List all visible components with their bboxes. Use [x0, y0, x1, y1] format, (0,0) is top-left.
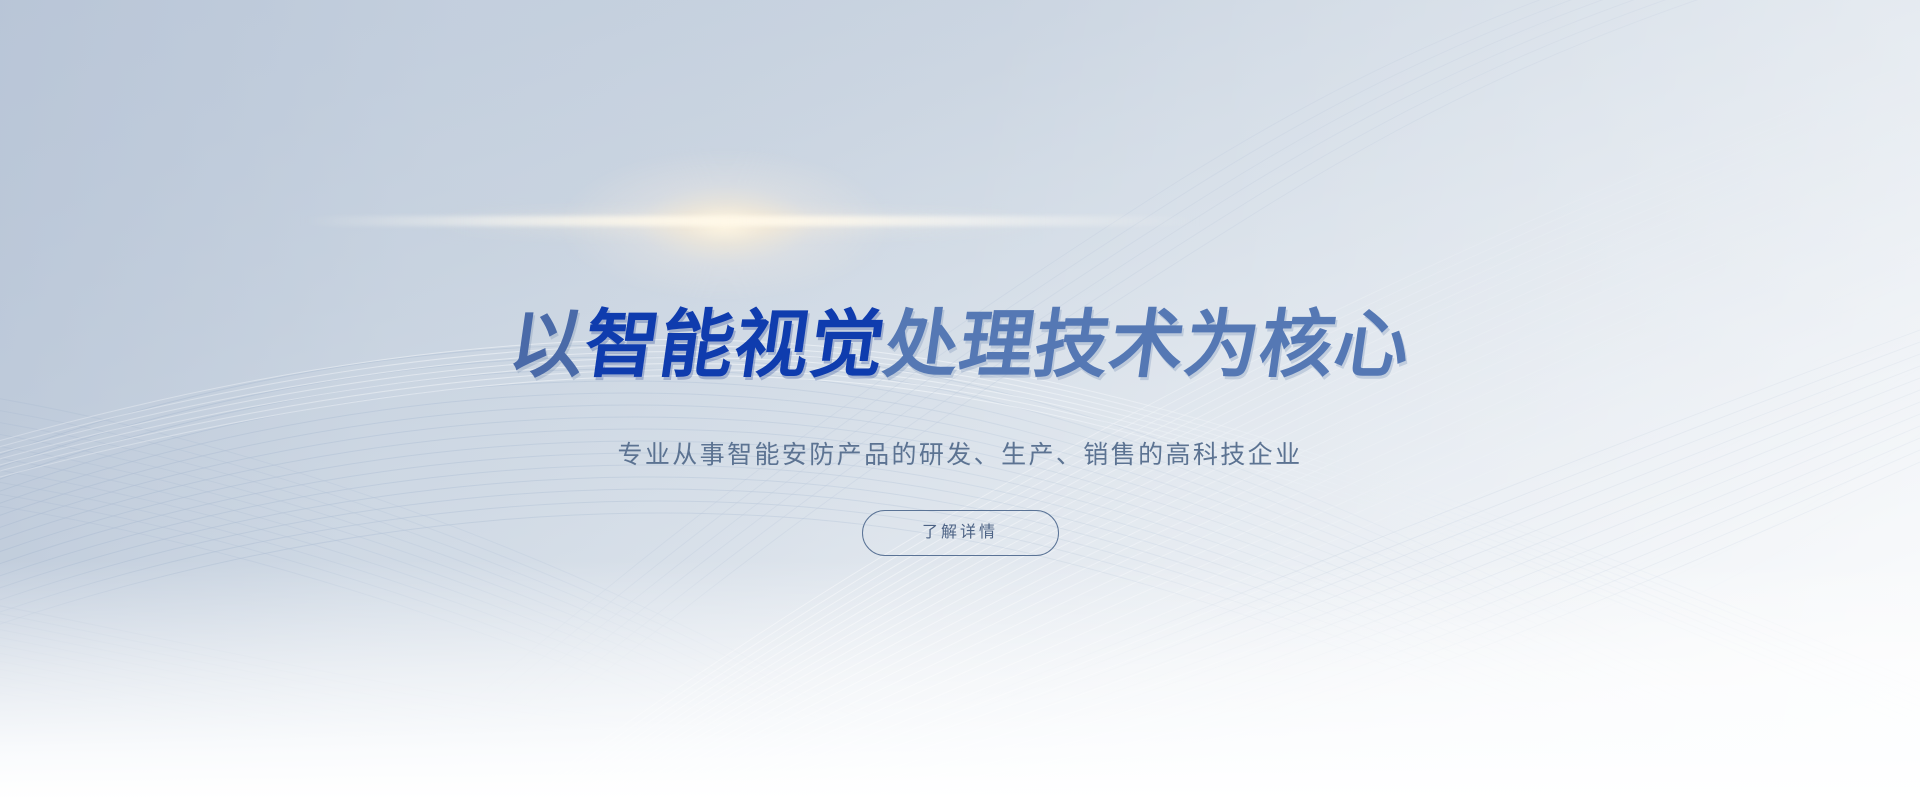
page-subtitle: 专业从事智能安防产品的研发、生产、销售的高科技企业 [0, 435, 1920, 471]
page-title: 以智能视觉处理技术为核心 [0, 308, 1920, 382]
cta-container: 了解详情 [0, 510, 1920, 556]
headline-segment-secondary: 处理技术为核心 [879, 302, 1416, 388]
headline-segment-accent: 智能视觉 [579, 302, 891, 388]
learn-more-button[interactable]: 了解详情 [862, 510, 1059, 556]
headline-segment-primary: 以 [504, 302, 591, 388]
hero-content: 以智能视觉处理技术为核心 专业从事智能安防产品的研发、生产、销售的高科技企业 了… [0, 0, 1920, 800]
hero-banner: 以智能视觉处理技术为核心 专业从事智能安防产品的研发、生产、销售的高科技企业 了… [0, 0, 1920, 800]
